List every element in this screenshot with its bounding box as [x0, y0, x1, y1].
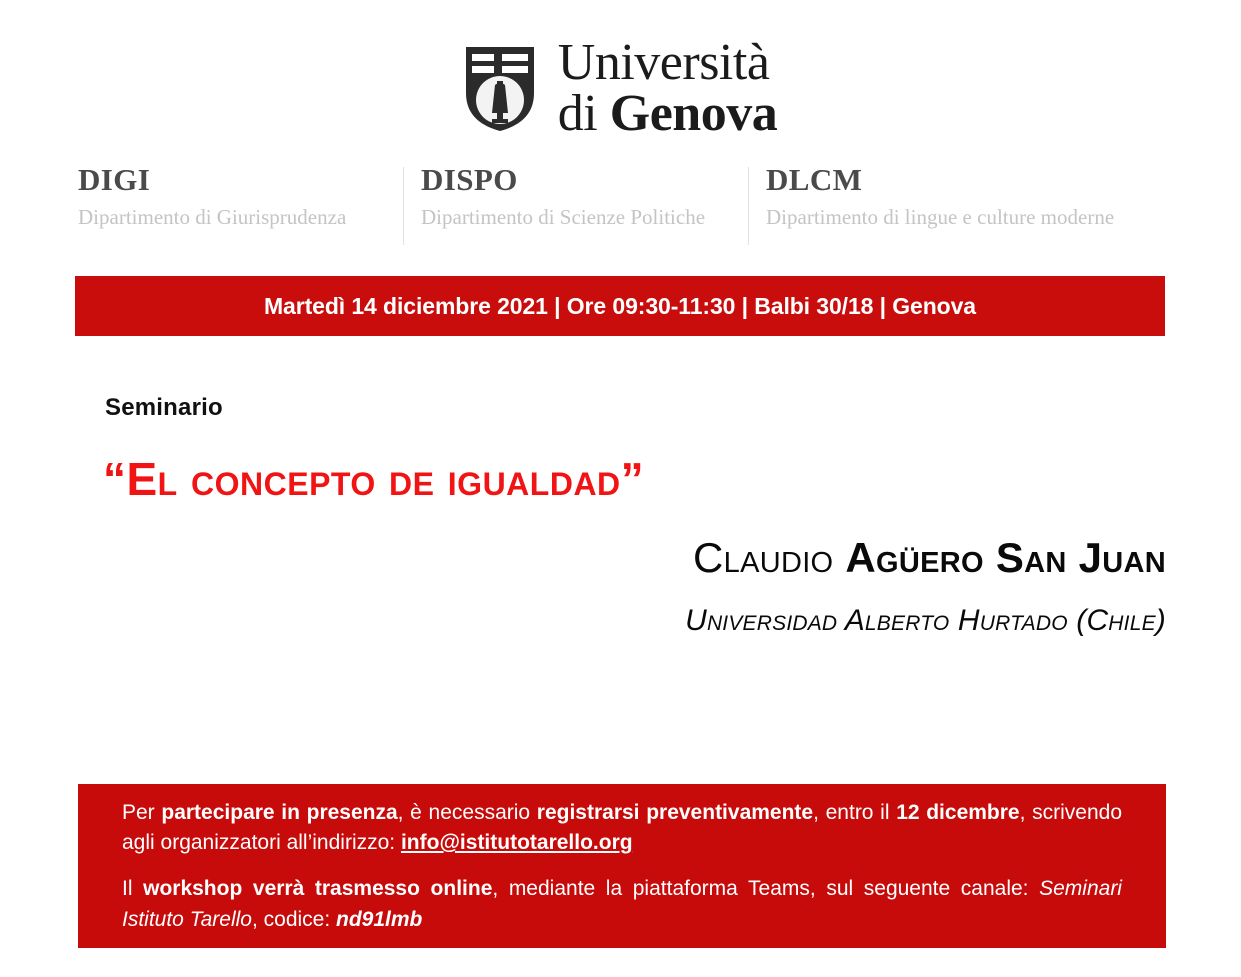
department-digi: DIGI Dipartimento di Giurisprudenza [78, 163, 403, 249]
university-name-genova: Genova [610, 85, 777, 142]
speaker-last-name: Agüero San Juan [845, 534, 1166, 581]
speaker-first-name: Claudio [693, 534, 845, 581]
speaker-name: Claudio Agüero San Juan [693, 534, 1166, 582]
department-divider [403, 167, 404, 245]
departments-strip: DIGI Dipartimento di Giurisprudenza DISP… [78, 163, 1168, 249]
online-text-3: , codice: [252, 908, 336, 931]
reg-text-1: Per [122, 801, 161, 824]
teams-code: nd91lmb [336, 908, 422, 931]
department-divider [748, 167, 749, 245]
speaker-affiliation: Universidad Alberto Hurtado (Chile) [685, 604, 1166, 638]
event-date-text: Martedì 14 diciembre 2021 | Ore 09:30-11… [264, 293, 976, 320]
department-name: Dipartimento di Scienze Politiche [421, 205, 730, 229]
university-name-line2: di Genova [558, 89, 777, 140]
university-header: Università di Genova [0, 38, 1241, 140]
department-acronym: DLCM [766, 163, 1150, 197]
university-wordmark: Università di Genova [558, 38, 777, 140]
online-paragraph: Il workshop verrà trasmesso online, medi… [122, 874, 1122, 934]
online-bold-workshop: workshop verrà trasmesso online [143, 877, 492, 900]
department-name: Dipartimento di Giurisprudenza [78, 205, 385, 229]
online-text-2: , mediante la piattaforma Teams, sul seg… [492, 877, 1039, 900]
department-dlcm: DLCM Dipartimento di lingue e culture mo… [748, 163, 1168, 249]
reg-bold-partecipare: partecipare in presenza [161, 801, 397, 824]
reg-text-3: , entro il [813, 801, 896, 824]
university-name-line1: Università [558, 38, 777, 89]
registration-paragraph: Per partecipare in presenza, è necessari… [122, 798, 1122, 858]
reg-bold-deadline: 12 dicembre [896, 801, 1019, 824]
reg-text-2: , è necessario [398, 801, 537, 824]
online-text-1: Il [122, 877, 143, 900]
registration-info-box: Per partecipare in presenza, è necessari… [78, 784, 1166, 948]
university-name-di: di [558, 85, 610, 142]
seminar-kicker: Seminario [105, 394, 223, 422]
event-date-banner: Martedì 14 diciembre 2021 | Ore 09:30-11… [75, 276, 1165, 336]
department-dispo: DISPO Dipartimento di Scienze Politiche [403, 163, 748, 249]
genoa-shield-icon [464, 45, 536, 133]
department-acronym: DISPO [421, 163, 730, 197]
department-acronym: DIGI [78, 163, 385, 197]
seminar-title: “El concepto de igualdad” [103, 452, 644, 506]
registration-email-link[interactable]: info@istitutotarello.org [401, 831, 633, 854]
reg-bold-registrarsi: registrarsi preventivamente [537, 801, 813, 824]
department-name: Dipartimento di lingue e culture moderne [766, 205, 1150, 229]
